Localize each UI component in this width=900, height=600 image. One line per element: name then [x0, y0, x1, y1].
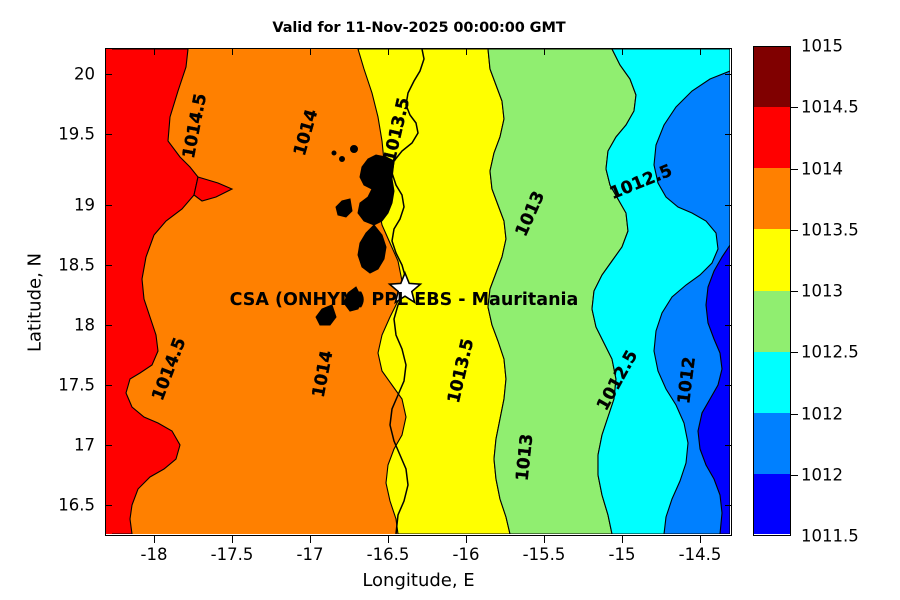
colorbar-band-6 [754, 413, 790, 474]
colorbar-tick [791, 291, 798, 292]
colorbar-band-0 [754, 47, 790, 107]
ytick-label: 18.5 [0, 256, 95, 275]
colorbar-tick-label: 1013 [801, 282, 843, 301]
figure-title: Valid for 11-Nov-2025 00:00:00 GMT [105, 20, 733, 36]
colorbar-tick-label: 1011.5 [801, 527, 859, 546]
y-axis-title: Latitude, N [25, 183, 46, 423]
contour-plot-area: 1014.5 1014 1013.5 1013 1012.5 1014.5 10… [105, 48, 732, 536]
ytick-label: 20 [0, 65, 95, 84]
colorbar-tick-label: 1012.5 [801, 343, 859, 362]
colorbar-tick [791, 169, 798, 170]
site-label: CSA (ONHYM) PPL EBS - Mauritania [230, 290, 579, 310]
ytick-label: 16.5 [0, 496, 95, 515]
colorbar-tick [791, 352, 798, 353]
contour-plot-svg: 1014.5 1014 1013.5 1013 1012.5 1014.5 10… [106, 49, 730, 534]
xtick-label: -17 [297, 545, 324, 564]
xtick-label: -15 [609, 545, 636, 564]
ytick-label: 18 [0, 316, 95, 335]
left-red-edge [106, 49, 112, 534]
colorbar-band-2 [754, 168, 790, 229]
colorbar [753, 46, 791, 536]
colorbar-tick-label: 1012 [801, 404, 843, 423]
xtick-label: -14.5 [679, 545, 722, 564]
xtick-label: -16 [453, 545, 480, 564]
xtick-label: -15.5 [523, 545, 566, 564]
xtick-label: -16.5 [367, 545, 410, 564]
surface-pressure-contour-figure: Valid for 11-Nov-2025 00:00:00 GMT [0, 0, 900, 600]
colorbar-band-1 [754, 107, 790, 168]
colorbar-band-3 [754, 229, 790, 290]
colorbar-tick-label: 1013.5 [801, 220, 859, 239]
colorbar-tick [791, 230, 798, 231]
colorbar-band-7 [754, 474, 790, 534]
ytick-label: 19.5 [0, 125, 95, 144]
colorbar-band-4 [754, 291, 790, 352]
xtick-label: -18 [141, 545, 168, 564]
colorbar-tick-label: 1014 [801, 159, 843, 178]
xtick-label: -17.5 [211, 545, 254, 564]
colorbar-tick [791, 475, 798, 476]
x-axis-title: Longitude, E [105, 570, 732, 591]
colorbar-band-5 [754, 352, 790, 413]
colorbar-tick [791, 414, 798, 415]
colorbar-tick-label: 1014.5 [801, 98, 859, 117]
ytick-label: 19 [0, 196, 95, 215]
colorbar-tick-label: 1012 [801, 465, 843, 484]
colorbar-tick-label: 1015 [801, 37, 843, 56]
colorbar-tick [791, 107, 798, 108]
ytick-label: 17.5 [0, 376, 95, 395]
ytick-label: 17 [0, 436, 95, 455]
